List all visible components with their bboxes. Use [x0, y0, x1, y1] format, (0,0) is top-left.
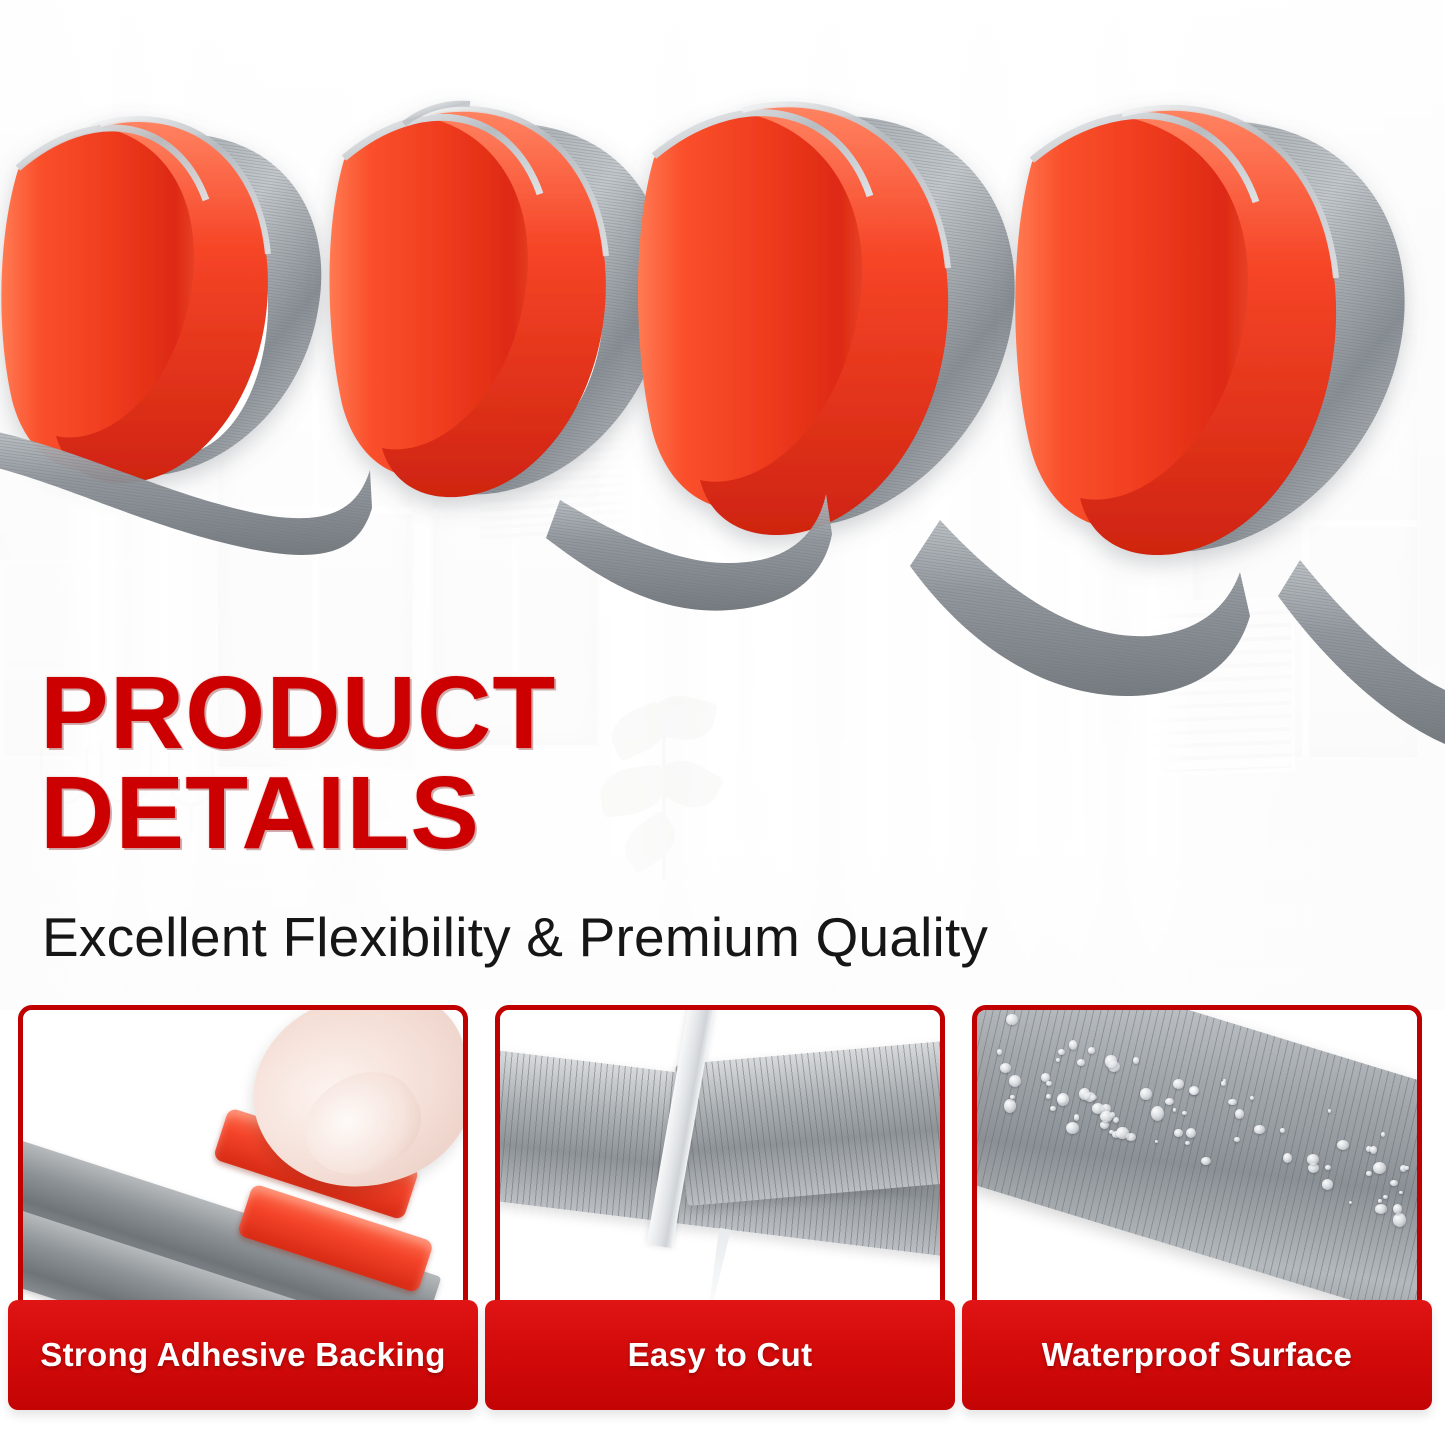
water-droplet [1155, 1140, 1158, 1143]
water-droplet [1058, 1049, 1065, 1055]
water-droplet [1201, 1157, 1211, 1165]
water-droplet [1328, 1109, 1331, 1112]
water-droplet [1066, 1122, 1079, 1134]
coil-1 [1, 119, 321, 483]
feature-card-waterproof[interactable]: Waterproof Surface [962, 1000, 1432, 1445]
water-droplet [1000, 1063, 1011, 1072]
feature-caption-adhesive: Strong Adhesive Backing [8, 1300, 478, 1410]
water-droplet [1393, 1213, 1406, 1226]
feature-caption-waterproof: Waterproof Surface [962, 1300, 1432, 1410]
water-droplet [1140, 1088, 1152, 1100]
water-droplet [1100, 1111, 1113, 1122]
feature-card-adhesive[interactable]: Strong Adhesive Backing [8, 1000, 478, 1445]
water-droplet [1006, 1014, 1018, 1025]
feature-panels: Strong Adhesive Backing Easy to Cut [0, 1000, 1445, 1445]
water-droplet [1337, 1140, 1349, 1150]
water-droplet [1004, 1099, 1016, 1113]
water-droplet [1366, 1171, 1371, 1176]
water-droplet [1307, 1154, 1320, 1164]
water-droplet [1234, 1137, 1240, 1142]
water-droplet [1116, 1127, 1128, 1139]
feature-caption-cut: Easy to Cut [485, 1300, 955, 1410]
water-droplet [1322, 1179, 1333, 1189]
page-title-line-2: DETAILS [40, 763, 556, 863]
water-droplet [1165, 1098, 1174, 1105]
water-droplet [1174, 1129, 1183, 1137]
product-details-infographic: PRODUCT DETAILS Excellent Flexibility & … [0, 0, 1445, 1445]
water-droplet [1074, 1114, 1080, 1120]
cord-cover-strip [674, 1036, 945, 1206]
water-droplet [1173, 1079, 1184, 1089]
coil-4 [1015, 108, 1404, 555]
water-droplet [1280, 1128, 1285, 1133]
coil-2 [330, 104, 667, 498]
feature-image-cut [495, 1005, 945, 1335]
page-title-line-1: PRODUCT [40, 655, 556, 770]
water-droplet [1381, 1132, 1385, 1137]
water-droplet [1393, 1204, 1402, 1213]
water-droplet [1113, 1117, 1119, 1123]
water-droplet [1056, 1058, 1060, 1061]
water-droplet [1189, 1086, 1199, 1095]
water-droplet [1250, 1096, 1254, 1100]
water-droplet [1105, 1055, 1116, 1067]
water-droplet [1221, 1081, 1226, 1085]
feature-image-adhesive [18, 1005, 468, 1335]
water-droplet [1373, 1162, 1386, 1174]
page-title: PRODUCT DETAILS [40, 663, 556, 863]
water-droplet [1254, 1125, 1265, 1133]
blade-tip-icon [705, 1228, 731, 1311]
water-droplet [1378, 1199, 1382, 1202]
feature-image-waterproof [972, 1005, 1422, 1335]
water-droplet [1050, 1106, 1056, 1111]
water-droplet [1046, 1081, 1052, 1086]
water-droplet [1057, 1093, 1069, 1107]
page-subtitle: Excellent Flexibility & Premium Quality [42, 905, 988, 969]
water-droplet [1182, 1111, 1187, 1115]
coil-3 [638, 104, 1015, 535]
water-droplet [1133, 1057, 1139, 1063]
water-droplet [1390, 1180, 1398, 1186]
water-droplet [1100, 1121, 1109, 1129]
water-droplet [1069, 1040, 1078, 1050]
water-droplet [1010, 1095, 1014, 1099]
feature-card-cut[interactable]: Easy to Cut [485, 1000, 955, 1445]
cord-cover-strip [977, 1010, 1417, 1330]
